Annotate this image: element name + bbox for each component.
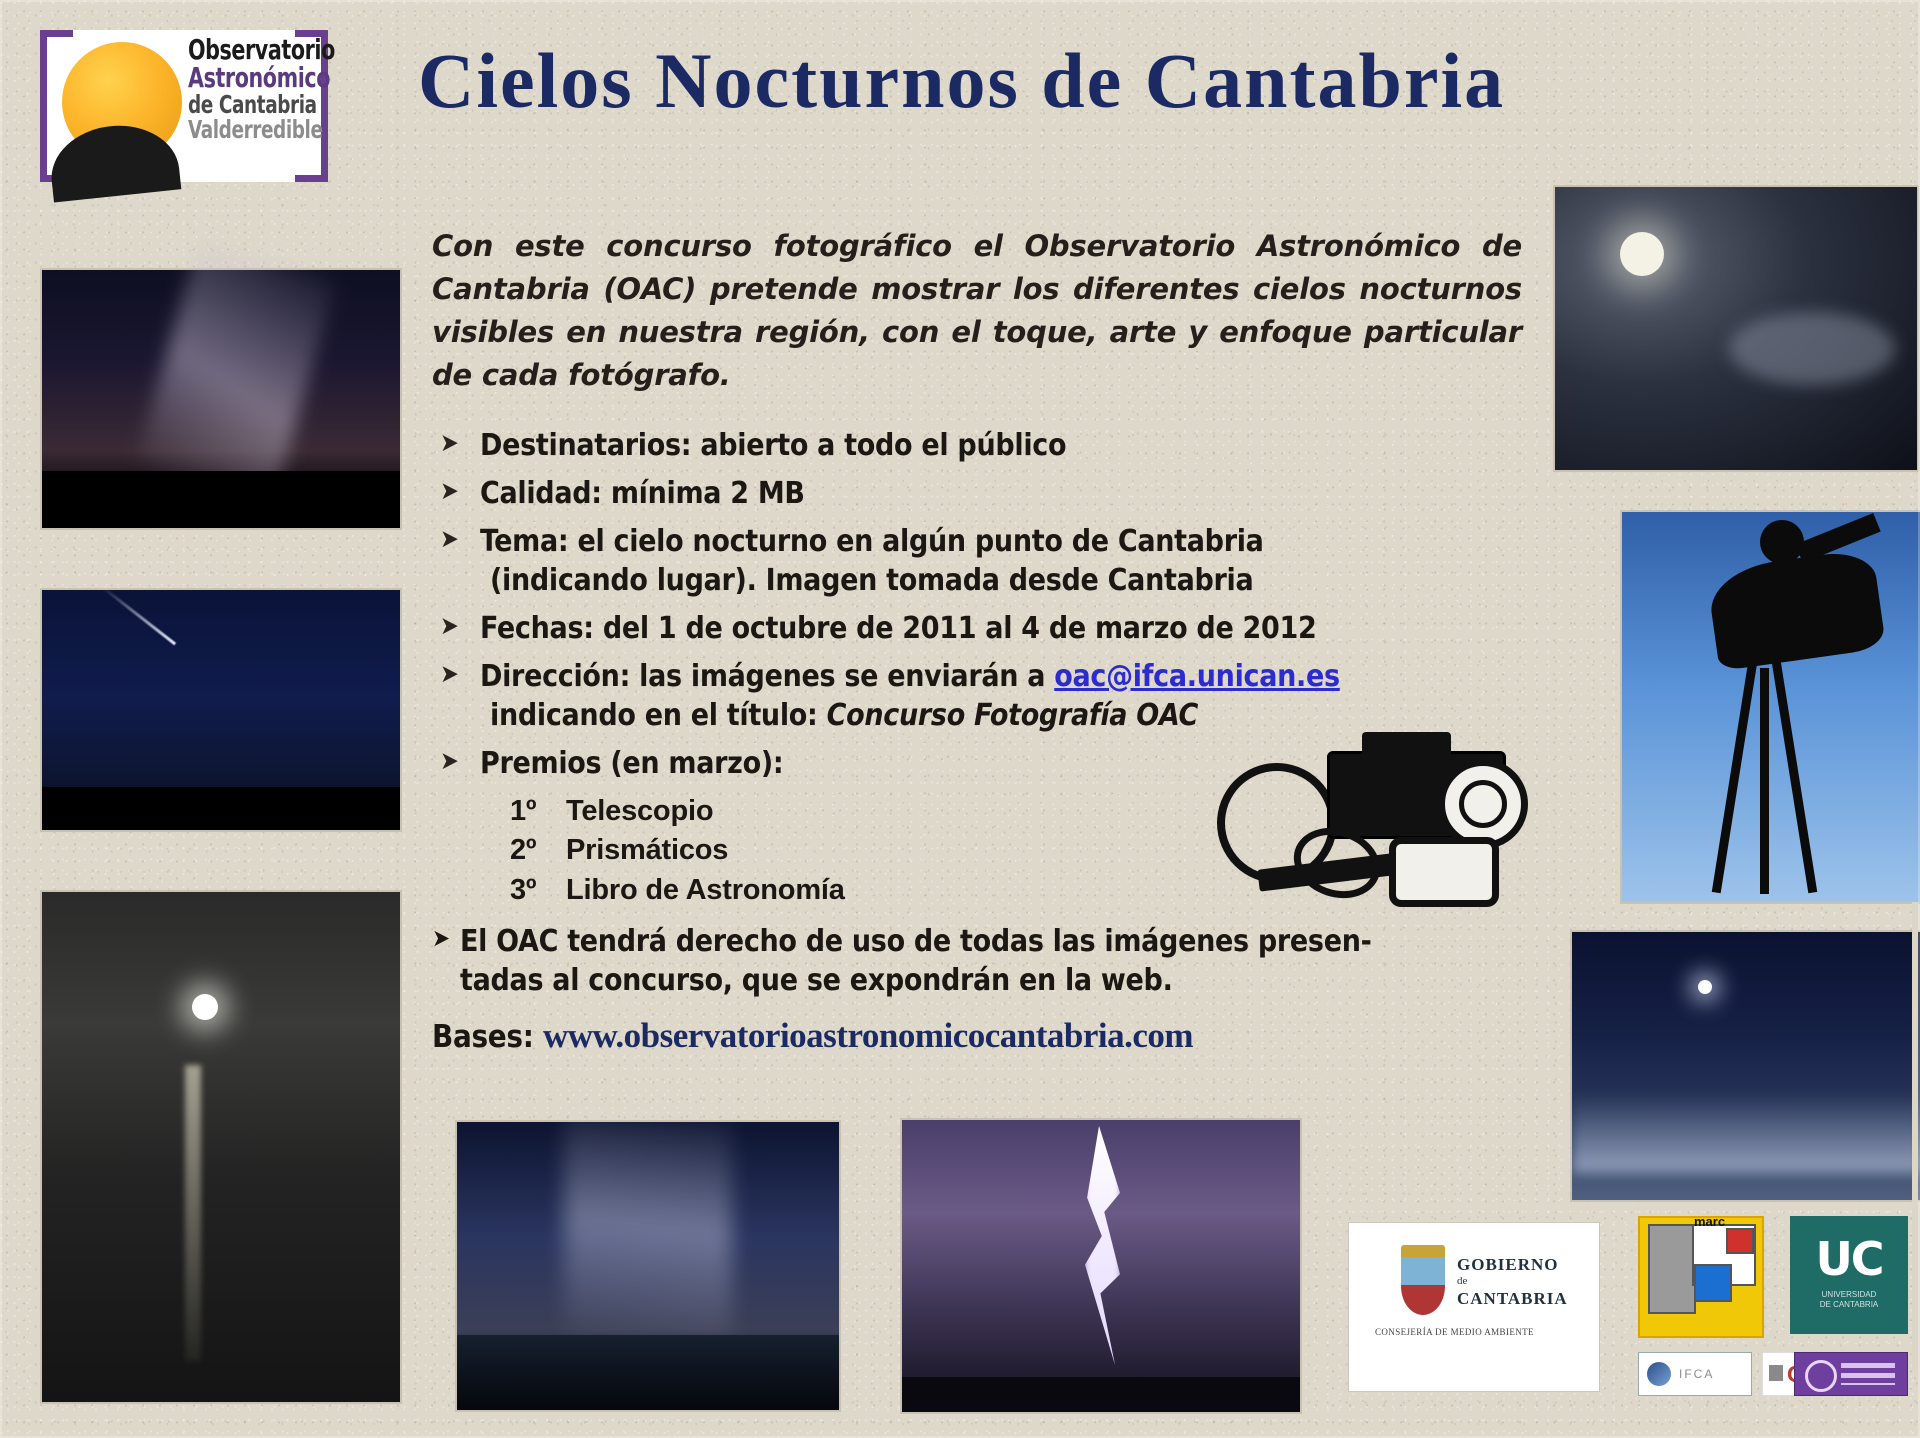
bullet-label-direccion: Dirección: <box>480 659 630 694</box>
prizes-list: 1ºTelescopio 2ºPrismáticos 3ºLibro de As… <box>432 792 1522 910</box>
oac-logo-text: Observatorio Astronómico de Cantabria Va… <box>188 36 324 142</box>
lightning-storm-photo <box>900 1118 1302 1414</box>
list-item-premios: ➤ Premios (en marzo): <box>432 744 1522 783</box>
bases-label: Bases: <box>432 1019 543 1055</box>
requirements-list: ➤ Destinatarios: abierto a todo el públi… <box>432 426 1522 783</box>
gobierno-line-1: GOBIERNO <box>1457 1255 1559 1275</box>
pcti-ring-icon <box>1805 1360 1837 1392</box>
bullet-text-fechas: del 1 de octubre de 2011 al 4 de marzo d… <box>594 611 1317 646</box>
prize-rank-3: 3º <box>510 871 566 910</box>
tripod-leg-c <box>1760 668 1769 894</box>
coat-of-arms-icon <box>1401 1257 1445 1315</box>
ifca-mark-icon <box>1647 1362 1671 1386</box>
foggy-lake-night-photo <box>1570 930 1920 1202</box>
prize-label-2: Prismáticos <box>566 834 728 866</box>
oac-logo: Observatorio Astronómico de Cantabria Va… <box>40 30 328 182</box>
prize-rank-1: 1º <box>510 792 566 831</box>
arrow-bullet-icon: ➤ <box>440 745 459 778</box>
arrow-bullet-icon: ➤ <box>440 475 459 508</box>
gobierno-de-cantabria-logo: GOBIERNO de CANTABRIA CONSEJERÍA DE MEDI… <box>1348 1222 1600 1392</box>
list-item-calidad: ➤ Calidad: mínima 2 MB <box>432 474 1522 513</box>
uc-subtitle: UNIVERSIDAD DE CANTABRIA <box>1790 1290 1908 1310</box>
bullet-label-tema: Tema: <box>480 524 568 559</box>
moon-clouds-photo <box>1553 185 1919 472</box>
lightning-bolt-shape <box>1085 1126 1120 1365</box>
bullet-text-tema: el cielo nocturno en algún punto de Cant… <box>568 524 1263 559</box>
arrow-bullet-icon: ➤ <box>440 610 459 643</box>
prize-item-1: 1ºTelescopio <box>510 792 1522 831</box>
poster-canvas: Observatorio Astronómico de Cantabria Va… <box>0 0 1920 1438</box>
bullet-label-calidad: Calidad: <box>480 476 602 511</box>
bullet-text-direccion: las imágenes se enviarán a <box>630 659 1054 694</box>
prize-item-2: 2ºPrismáticos <box>510 831 1522 870</box>
gobierno-line-2: de <box>1457 1275 1467 1287</box>
ifca-logo: IFCA <box>1638 1352 1752 1396</box>
universidad-de-cantabria-logo: UC UNIVERSIDAD DE CANTABRIA <box>1790 1216 1908 1334</box>
logo-line-2: Astronómico <box>188 64 300 92</box>
intro-paragraph: Con este concurso fotográfico el Observa… <box>432 225 1522 397</box>
csic-mark-icon <box>1769 1365 1783 1381</box>
bullet-label-destinatarios: Destinatarios: <box>480 428 691 463</box>
email-link[interactable]: oac@ifca.unican.es <box>1054 659 1340 694</box>
bullet-text-calidad: mínima 2 MB <box>602 476 805 511</box>
titulo-prefix: indicando en el título: <box>490 698 827 733</box>
logo-line-4: Valderredible <box>188 117 300 142</box>
list-item-destinatarios: ➤ Destinatarios: abierto a todo el públi… <box>432 426 1522 465</box>
moonlit-sea-photo <box>40 890 402 1404</box>
gobierno-line-4: CONSEJERÍA DE MEDIO AMBIENTE <box>1375 1327 1534 1337</box>
marc-label: marc <box>1694 1214 1725 1229</box>
milky-way-horizon-photo <box>40 268 402 530</box>
uc-initials: UC <box>1790 1232 1908 1286</box>
bullet-text-direccion-line2: indicando en el título: Concurso Fotogra… <box>480 696 1522 735</box>
tripod-leg-b <box>1772 661 1817 894</box>
bases-url[interactable]: www.observatorioastronomicocantabria.com <box>543 1016 1193 1055</box>
content-column: Con este concurso fotográfico el Observa… <box>432 196 1522 1056</box>
astrophotographer-silhouette-photo <box>1620 510 1920 904</box>
meteor-night-photo <box>40 588 402 832</box>
uc-subtitle-1: UNIVERSIDAD <box>1822 1290 1877 1299</box>
bases-line: Bases: www.observatorioastronomicocantab… <box>432 1016 1522 1056</box>
gobierno-line-3: CANTABRIA <box>1457 1289 1568 1309</box>
bullet-label-fechas: Fechas: <box>480 611 594 646</box>
arrow-bullet-icon: ➤ <box>432 923 450 954</box>
marc-blue-block <box>1694 1264 1732 1302</box>
marc-gray-block <box>1648 1224 1696 1314</box>
marc-logo: marc <box>1638 1216 1764 1338</box>
pcti-logo <box>1794 1352 1908 1396</box>
pcti-bars-icon <box>1841 1363 1895 1385</box>
astronomer-body-shape <box>1706 548 1886 672</box>
prize-label-1: Telescopio <box>566 795 713 827</box>
tripod-leg-a <box>1712 661 1757 894</box>
page-title: Cielos Nocturnos de Cantabria <box>418 42 1898 120</box>
usage-rights-note: ➤ El OAC tendrá derecho de uso de todas … <box>432 922 1522 1000</box>
marc-red-block <box>1726 1228 1754 1254</box>
bullet-text-destinatarios: abierto a todo el público <box>691 428 1066 463</box>
titulo-italic: Concurso Fotografía OAC <box>827 698 1198 733</box>
prize-label-3: Libro de Astronomía <box>566 874 845 906</box>
bullet-text-tema-line2: (indicando lugar). Imagen tomada desde C… <box>480 561 1522 600</box>
list-item-fechas: ➤ Fechas: del 1 de octubre de 2011 al 4 … <box>432 609 1522 648</box>
usage-rights-line-1: El OAC tendrá derecho de uso de todas la… <box>460 924 1372 959</box>
uc-subtitle-2: DE CANTABRIA <box>1820 1300 1879 1309</box>
logo-line-1: Observatorio <box>188 36 300 64</box>
list-item-direccion: ➤ Dirección: las imágenes se enviarán a … <box>432 657 1522 735</box>
ifca-label: IFCA <box>1679 1367 1714 1381</box>
usage-rights-line-2: tadas al concurso, que se expondrán en l… <box>460 963 1173 998</box>
arrow-bullet-icon: ➤ <box>440 523 459 556</box>
right-edge-strip <box>1912 902 1918 1372</box>
prize-rank-2: 2º <box>510 831 566 870</box>
arrow-bullet-icon: ➤ <box>440 658 459 691</box>
prize-item-3: 3ºLibro de Astronomía <box>510 871 1522 910</box>
list-item-tema: ➤ Tema: el cielo nocturno en algún punto… <box>432 522 1522 600</box>
arrow-bullet-icon: ➤ <box>440 427 459 460</box>
bullet-label-premios: Premios (en marzo): <box>480 746 783 781</box>
milky-way-lake-photo <box>455 1120 841 1412</box>
logo-line-3: de Cantabria <box>188 92 300 117</box>
